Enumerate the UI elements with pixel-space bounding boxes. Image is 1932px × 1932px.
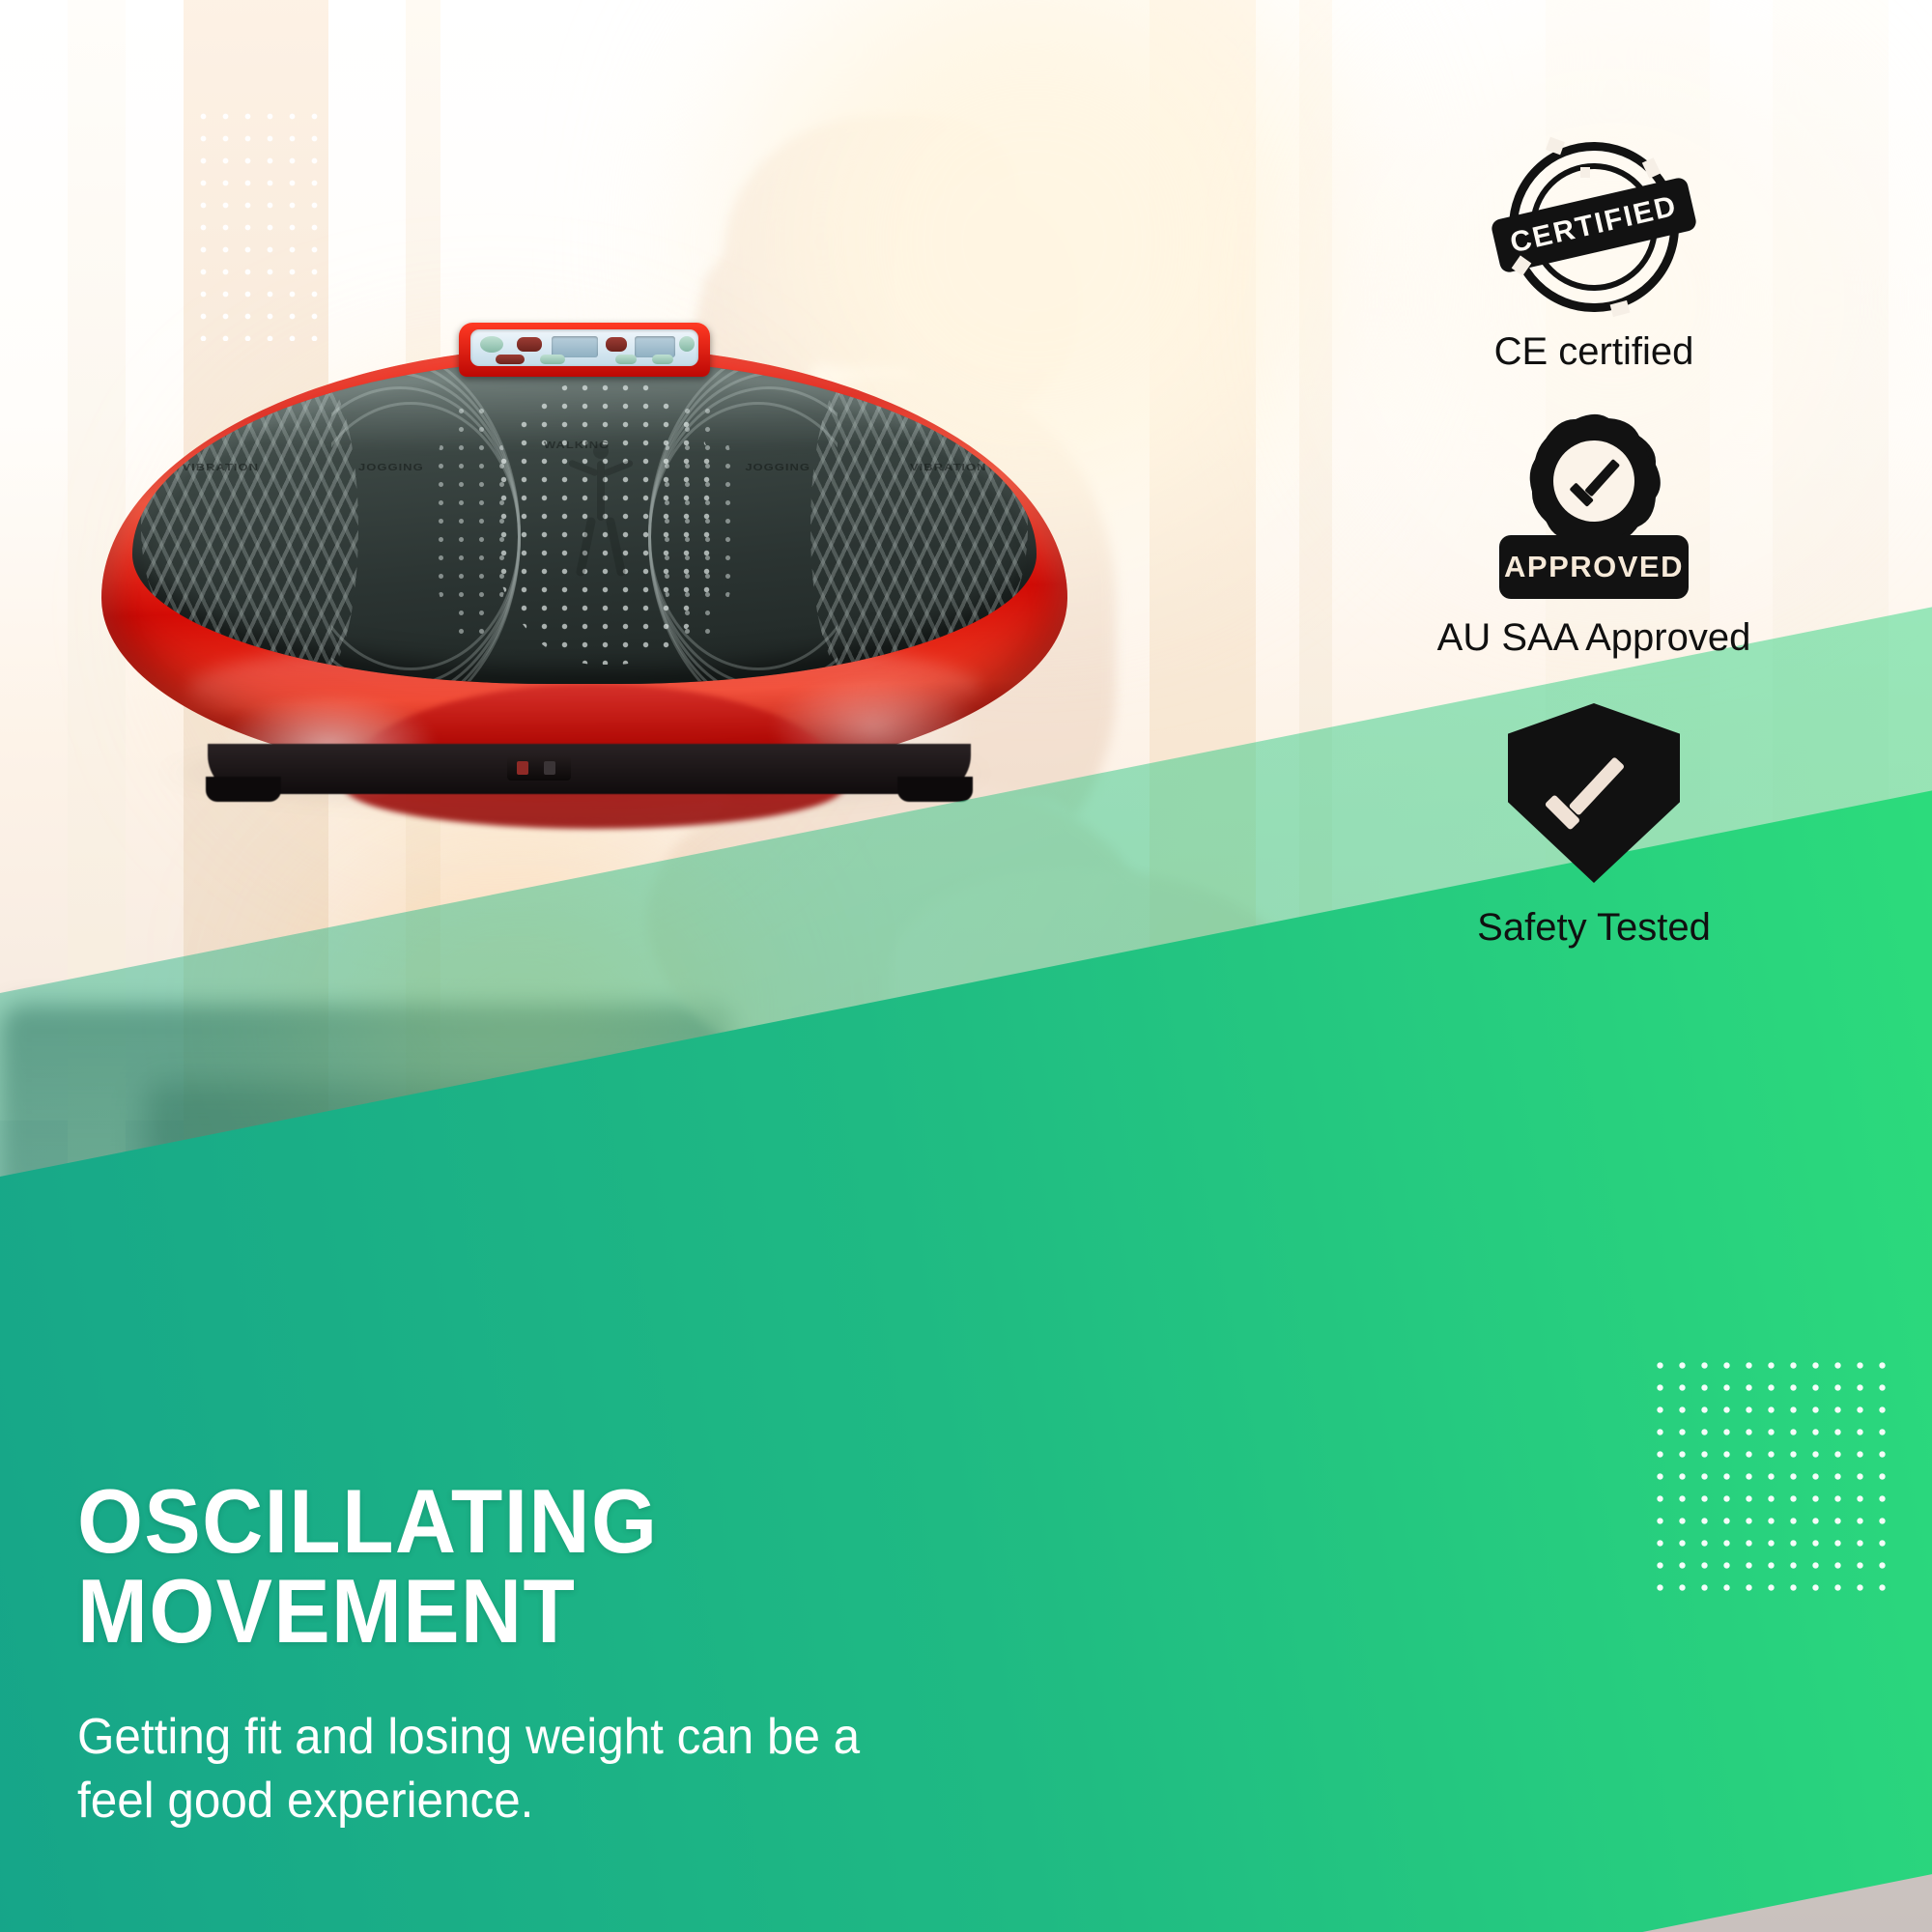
headline-line-1: OSCILLATING [77,1476,1155,1566]
platform-zone-label: JOGGING [745,462,810,473]
dot-grid-pattern-top-left [188,101,326,341]
badge-label-ce-certified: CE certified [1323,330,1864,373]
headline: OSCILLATING MOVEMENT [77,1476,1155,1656]
product-standing-platform: VIBRATION JOGGING WALKING JOGGING VIBRAT… [132,359,1037,684]
subtitle: Getting fit and losing weight can be a f… [77,1706,1179,1833]
platform-zone-label: VIBRATION [182,462,259,473]
certified-stamp-icon: CERTIFIED [1509,142,1679,312]
badge-label-safety-tested: Safety Tested [1323,906,1864,949]
approved-seal-icon: APPROVED [1499,419,1689,599]
platform-human-figure-graphic [566,443,634,588]
power-switch[interactable] [507,755,571,781]
seal-check-icon [1573,466,1623,502]
shield-check-icon [1508,703,1680,883]
platform-zone-label: VIBRATION [910,462,987,473]
badge-au-saa-approved: APPROVED AU SAA Approved [1323,417,1864,659]
certification-badge-list: CERTIFIED CE certified [1323,145,1864,949]
seal-banner-text: APPROVED [1504,550,1684,584]
power-socket [544,761,555,775]
product-foot [206,777,281,802]
subtitle-line-1: Getting fit and losing weight can be a [77,1706,1179,1770]
shield-art [1323,701,1864,885]
panel-button-start[interactable] [496,355,525,364]
subtitle-line-2: feel good experience. [77,1770,1179,1833]
badge-label-au-saa-approved: AU SAA Approved [1323,616,1864,659]
vibration-plate-machine: VIBRATION JOGGING WALKING JOGGING VIBRAT… [92,319,1077,821]
panel-button-power[interactable] [517,337,542,352]
badge-safety-tested: Safety Tested [1323,701,1864,949]
panel-button-up[interactable] [540,355,565,364]
marketing-copy-block: OSCILLATING MOVEMENT Getting fit and los… [77,1476,1236,1833]
panel-button-plus[interactable] [679,336,695,352]
control-panel[interactable] [470,329,698,366]
panel-button-mode[interactable] [480,336,503,353]
product-base-strip [208,744,971,794]
panel-button-stop[interactable] [652,355,673,364]
platform-gloss [168,366,1000,450]
product-marketing-poster: VIBRATION JOGGING WALKING JOGGING VIBRAT… [0,0,1932,1932]
certified-stamp-art: CERTIFIED [1323,145,1864,309]
stamp-grunge-nick [1610,300,1631,317]
headline-line-2: MOVEMENT [77,1566,1155,1656]
vibration-plate-product-image: VIBRATION JOGGING WALKING JOGGING VIBRAT… [92,319,1077,821]
seal-banner: APPROVED [1499,535,1689,599]
panel-button-program[interactable] [606,337,627,352]
stamp-grunge-nick [1580,167,1590,178]
product-foot [897,777,973,802]
power-switch-led [517,761,528,775]
dot-grid-pattern-bottom-right [1645,1350,1887,1597]
badge-ce-certified: CERTIFIED CE certified [1323,145,1864,373]
panel-button-down[interactable] [615,355,637,364]
approved-seal-art: APPROVED [1323,417,1864,601]
platform-zone-label: JOGGING [358,462,424,473]
